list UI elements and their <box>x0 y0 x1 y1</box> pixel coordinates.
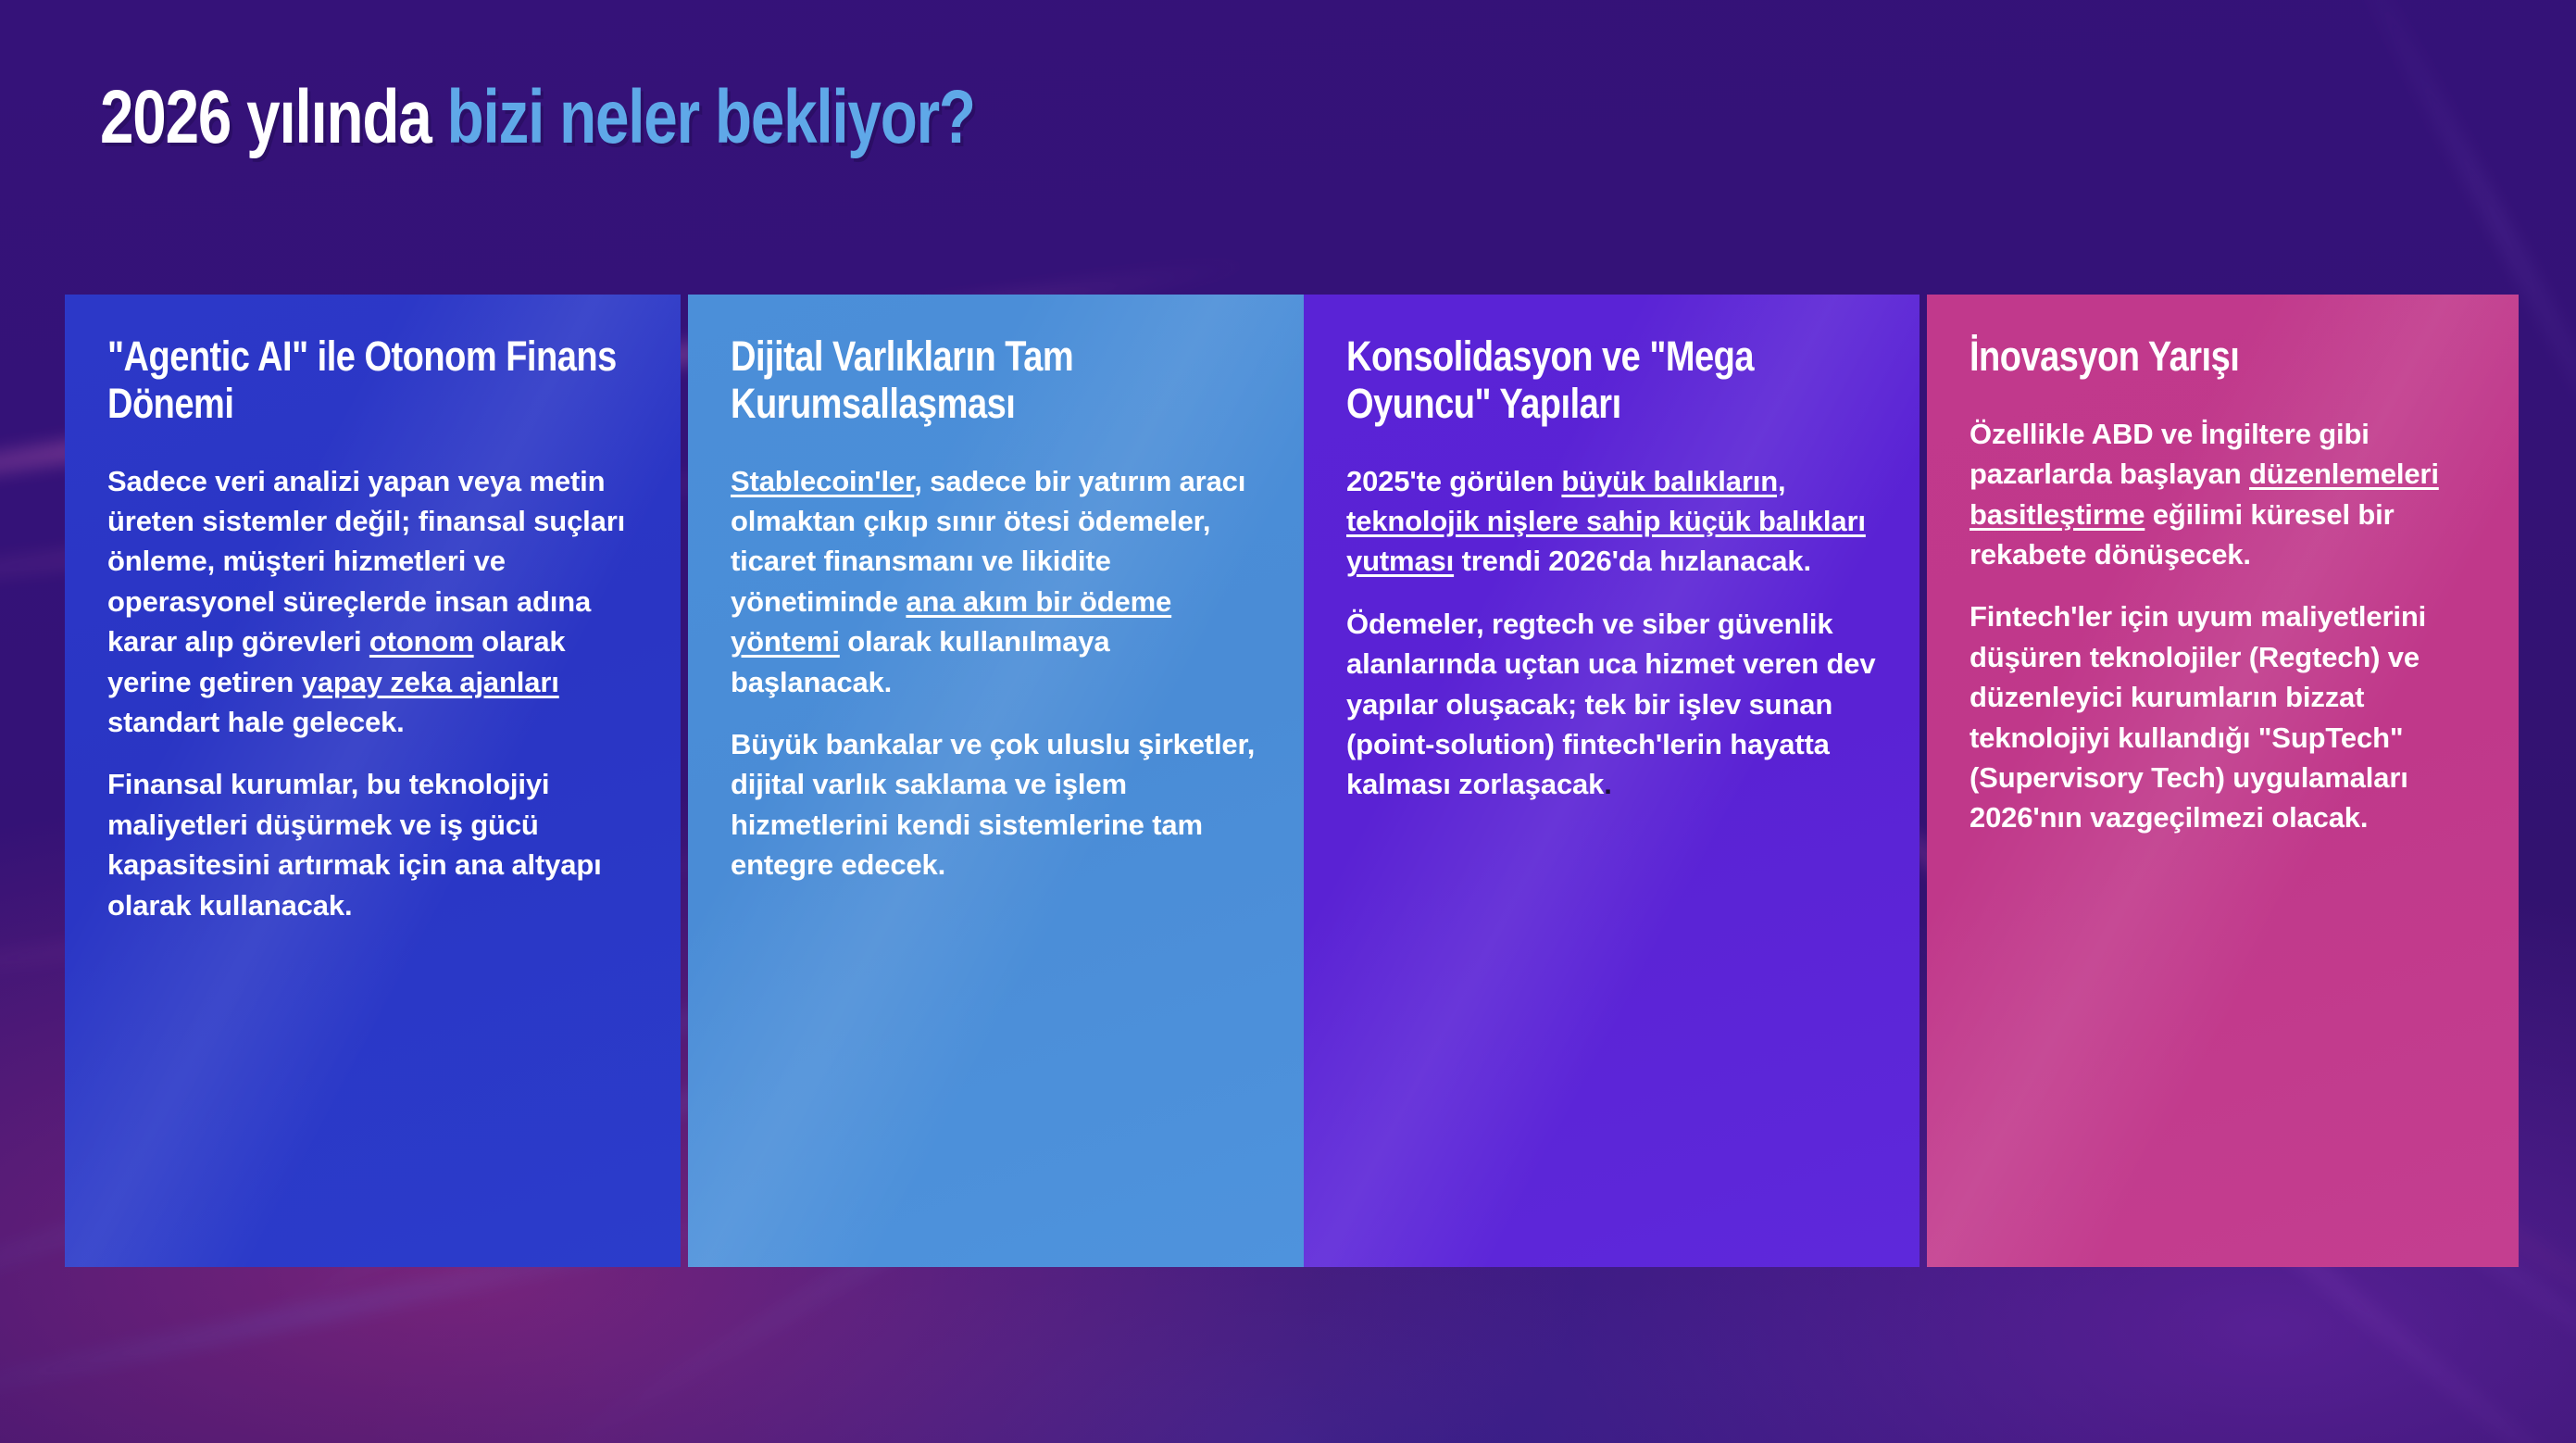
column-body: 2025'te görülen büyük balıkların, teknol… <box>1346 461 1877 805</box>
highlighted-term: büyük balıkların, teknolojik nişlere sah… <box>1346 465 1866 578</box>
column-heading: "Agentic AI" ile Otonom Finans Dönemi <box>107 333 636 428</box>
slide-footer: KPMG © 2025 KPMG Yönetim Danışmanlığı A.… <box>0 1304 2576 1443</box>
trend-column-dijital-varliklar[interactable]: Dijital Varlıkların Tam Kurumsallaşması … <box>688 295 1304 1267</box>
trend-column-inovasyon[interactable]: İnovasyon Yarışı Özellikle ABD ve İngilt… <box>1927 295 2519 1267</box>
trend-column-konsolidasyon[interactable]: Konsolidasyon ve "Mega Oyuncu" Yapıları … <box>1304 295 1919 1267</box>
trend-column-agentic-ai[interactable]: "Agentic AI" ile Otonom Finans Dönemi Sa… <box>65 295 681 1267</box>
column-heading: İnovasyon Yarışı <box>1970 333 2474 381</box>
column-body: Sadece veri analizi yapan veya metin üre… <box>107 461 638 925</box>
column-paragraph: Fintech'ler için uyum maliyetlerini düşü… <box>1970 596 2476 837</box>
highlighted-term: otonom <box>369 625 474 658</box>
title-part-two: bizi neler bekliyor? <box>447 75 975 159</box>
column-paragraph: Finansal kurumlar, bu teknolojiyi maliye… <box>107 764 638 925</box>
column-body: Özellikle ABD ve İngiltere gibi pazarlar… <box>1970 414 2476 838</box>
column-paragraph: Büyük bankalar ve çok uluslu şirketler, … <box>731 724 1261 885</box>
column-paragraph: Sadece veri analizi yapan veya metin üre… <box>107 461 638 743</box>
column-body: Stablecoin'ler, sadece bir yatırım aracı… <box>731 461 1261 885</box>
column-paragraph: 2025'te görülen büyük balıkların, teknol… <box>1346 461 1877 582</box>
column-heading: Dijital Varlıkların Tam Kurumsallaşması <box>731 333 1259 428</box>
sentence-period: . <box>1604 768 1611 800</box>
column-paragraph: Stablecoin'ler, sadece bir yatırım aracı… <box>731 461 1261 702</box>
column-paragraph: Ödemeler, regtech ve siber güvenlik alan… <box>1346 604 1877 805</box>
title-part-one: 2026 yılında <box>100 75 447 159</box>
highlighted-term: düzenlemeleri basitleştirme <box>1970 458 2439 530</box>
column-paragraph: Özellikle ABD ve İngiltere gibi pazarlar… <box>1970 414 2476 575</box>
highlighted-term: yapay zeka ajanları <box>302 666 559 698</box>
highlighted-term: Stablecoin'ler <box>731 465 914 497</box>
column-heading: Konsolidasyon ve "Mega Oyuncu" Yapıları <box>1346 333 1875 428</box>
page-title: 2026 yılında bizi neler bekliyor? <box>100 80 975 156</box>
trend-columns: "Agentic AI" ile Otonom Finans Dönemi Sa… <box>65 295 2519 1267</box>
highlighted-term: ana akım bir ödeme yöntemi <box>731 585 1171 658</box>
